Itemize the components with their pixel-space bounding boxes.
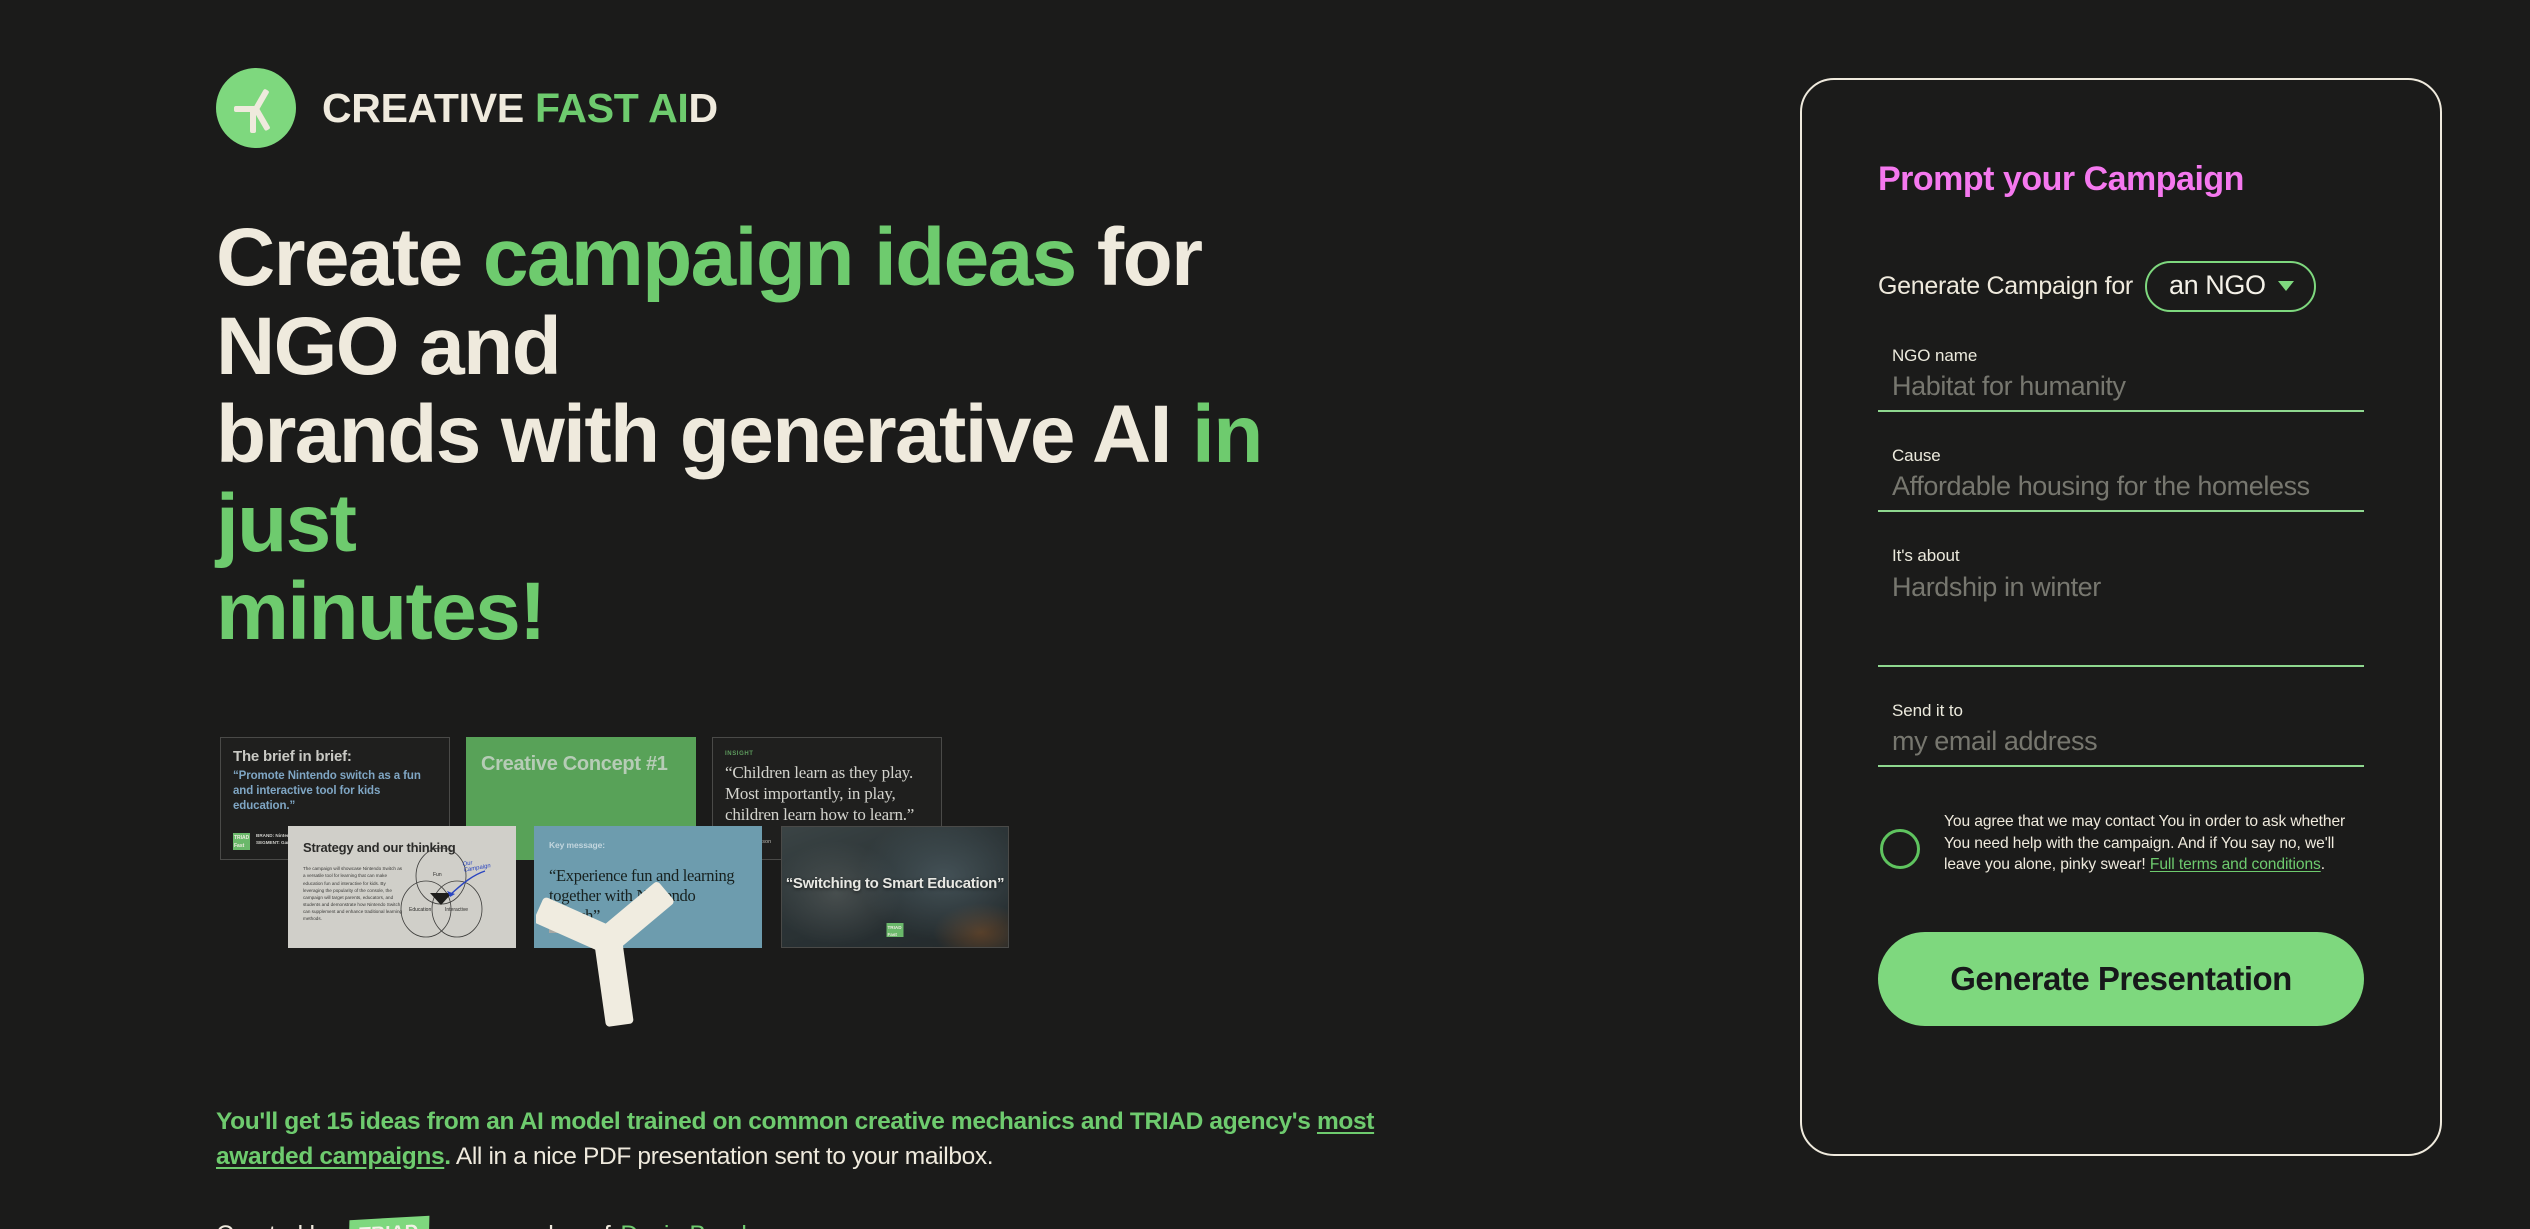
app-root: CREATIVE FAST AID Create campaign ideas … [0,0,2530,1229]
field-ngo-name: NGO name Habitat for humanity [1878,346,2364,412]
audience-type-dropdown[interactable]: an NGO [2145,261,2316,312]
hero-line1-a: Create [216,212,483,303]
field-cause: Cause Affordable housing for the homeles… [1878,446,2364,512]
slide-brief-badge: TRIAD Fast AID [233,833,250,850]
consent-row: You agree that we may contact You in ord… [1878,811,2364,876]
audience-type-value: an NGO [2169,270,2266,301]
credits-prefix: Created by [216,1221,335,1229]
brand-title-part3: D [689,85,718,131]
slide-key-chip [549,919,571,933]
hero-line3: minutes! [216,566,545,657]
field-its-about-label: It's about [1892,546,2364,566]
triad-badge: TRIAD [349,1216,429,1229]
slide-insight-quote: “Children learn as they play. Most impor… [725,762,929,825]
field-ngo-name-label: NGO name [1892,346,2364,366]
hero-headline: Create campaign ideas for NGO andbrands … [216,214,1396,657]
slide-key-text: “Experience fun and learning together wi… [549,866,747,927]
slide-brief-body: “Promote Nintendo switch as a fun and in… [233,769,437,813]
venn-label-right: Interactive [445,907,468,913]
slide-preview-key-message: Key message: “Experience fun and learnin… [534,826,762,948]
field-send-it-to: Send it to my email address [1878,701,2364,767]
ngo-name-input[interactable]: Habitat for humanity [1878,371,2364,412]
generate-presentation-button[interactable]: Generate Presentation [1878,932,2364,1026]
credits-dash: — [453,1221,478,1229]
consent-period: . [2321,856,2325,873]
brand-title-part1: CREATIVE [322,85,535,131]
panel-title: Prompt your Campaign [1878,160,2364,199]
slide-previews-collage: The brief in brief: “Promote Nintendo sw… [216,713,1216,1013]
promo-plain: All in a nice PDF presentation sent to y… [451,1143,994,1170]
cause-input[interactable]: Affordable housing for the homeless [1878,471,2364,512]
slide-preview-strategy: Strategy and our thinking The campaign w… [288,826,516,948]
slide-photo-badge: TRIAD Fast AID [887,923,904,937]
brand-header: CREATIVE FAST AID [216,62,1716,154]
slide-concept-title: Creative Concept #1 [481,752,681,776]
promo-green-a: You'll get 15 ideas from an AI model tra… [216,1108,1317,1135]
credits-middle: member of [494,1221,611,1229]
brand-title: CREATIVE FAST AID [322,85,718,132]
slide-brief-title: The brief in brief: [233,749,437,766]
slide-insight-kicker: INSIGHT [725,751,929,757]
email-input[interactable]: my email address [1878,726,2364,767]
generate-for-row: Generate Campaign for an NGO [1878,261,2364,312]
promo-paragraph: You'll get 15 ideas from an AI model tra… [216,1105,1396,1175]
chevron-down-icon [2278,281,2294,291]
consent-text: You agree that we may contact You in ord… [1944,811,2364,876]
terms-and-conditions-link[interactable]: Full terms and conditions [2150,856,2321,873]
hero-line1-b: campaign ideas [483,212,1076,303]
field-send-it-to-label: Send it to [1892,701,2364,721]
field-its-about: It's about Hardship in winter [1878,546,2364,667]
field-cause-label: Cause [1892,446,2364,466]
venn-label-top: Fun [433,872,442,878]
consent-checkbox[interactable] [1880,829,1920,869]
its-about-input[interactable]: Hardship in winter [1878,571,2364,667]
venn-diagram: Fun Education Interactive Our Campaign [381,847,501,948]
generate-for-label: Generate Campaign for [1878,272,2133,301]
slide-key-kicker: Key message: [549,840,747,850]
left-content-column: CREATIVE FAST AID Create campaign ideas … [216,62,1716,1229]
slide-preview-photo-headline: “Switching to Smart Education” TRIAD Fas… [781,826,1009,948]
credits-row: Created by TRIAD — member of Devin Band [216,1218,1716,1229]
triskelion-logo-icon [216,68,296,148]
venn-label-left: Education [409,907,431,913]
slide-photo-headline: “Switching to Smart Education” [782,875,1008,893]
brand-title-part2: FAST AI [535,85,689,131]
prompt-campaign-panel: Prompt your Campaign Generate Campaign f… [1800,78,2442,1156]
hero-line2-a: brands with generative AI [216,389,1192,480]
devin-band-link[interactable]: Devin Band [620,1221,746,1229]
